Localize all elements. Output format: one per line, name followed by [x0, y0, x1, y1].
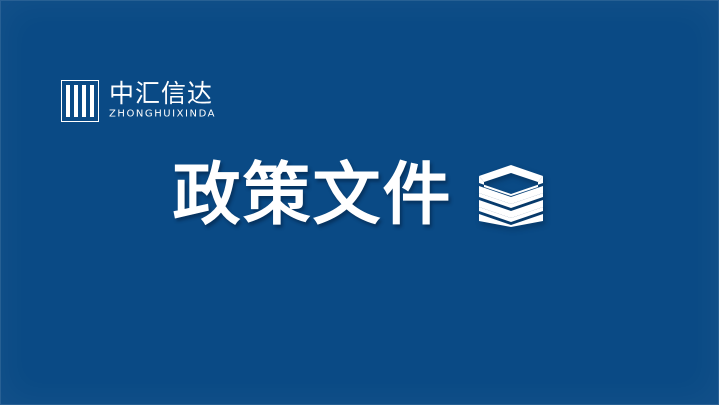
logo-bar [90, 85, 94, 117]
logo-bar [74, 85, 78, 117]
page-title: 政策文件 [172, 158, 452, 234]
zhonghuixinda-logo-mark-icon [61, 80, 99, 122]
logo-bar [82, 85, 86, 117]
brand-lockup: 中汇信达 ZHONGHUIXINDA [61, 80, 216, 122]
title-block: 政策文件 [0, 158, 719, 234]
brand-name-cn: 中汇信达 [109, 80, 216, 107]
logo-bar [66, 85, 70, 117]
brand-text: 中汇信达 ZHONGHUIXINDA [109, 80, 216, 121]
policy-documents-slide: 中汇信达 ZHONGHUIXINDA 政策文件 [0, 0, 719, 405]
brand-name-en: ZHONGHUIXINDA [109, 109, 216, 121]
book-stack-icon [475, 163, 547, 229]
